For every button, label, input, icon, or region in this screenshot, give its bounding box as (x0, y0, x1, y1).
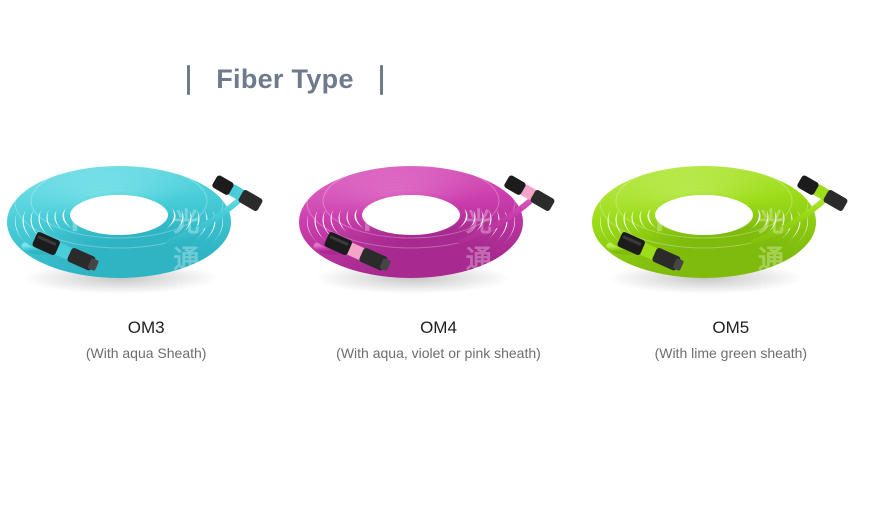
fiber-type-list: FOPT ® 光通讯 OM3 (With aqua Sheath) (0, 150, 877, 380)
page-title-text: Fiber Type (216, 64, 354, 95)
fiber-type-caption-om5: OM5 (With lime green sheath) (655, 316, 808, 363)
fiber-type-sublabel: (With aqua Sheath) (86, 343, 207, 363)
fiber-type-sublabel: (With lime green sheath) (655, 343, 808, 363)
fiber-type-label: OM5 (655, 316, 808, 341)
fiber-type-label: OM4 (336, 316, 541, 341)
fiber-type-caption-om4: OM4 (With aqua, violet or pink sheath) (336, 316, 541, 363)
magenta-fiber-trunk-cable-coil: FOPT ® 光通讯 (293, 150, 583, 310)
fiber-type-card-om5[interactable]: FOPT ® 光通讯 OM5 (With lime green sheath) (585, 150, 877, 380)
page-title: Fiber Type (0, 64, 570, 95)
fiber-type-caption-om3: OM3 (With aqua Sheath) (86, 316, 207, 363)
title-rule-right-icon (380, 65, 383, 95)
fiber-type-card-om3[interactable]: FOPT ® 光通讯 OM3 (With aqua Sheath) (0, 150, 292, 380)
title-rule-left-icon (187, 65, 190, 95)
fiber-type-label: OM3 (86, 316, 207, 341)
aqua-fiber-trunk-cable-coil: FOPT ® 光通讯 (1, 150, 291, 310)
fiber-type-sublabel: (With aqua, violet or pink sheath) (336, 343, 541, 363)
fiber-type-panel: Fiber Type (0, 0, 877, 509)
fiber-type-card-om4[interactable]: FOPT ® 光通讯 OM4 (With aqua, violet or pin… (292, 150, 584, 380)
lime-green-fiber-trunk-cable-coil: FOPT ® 光通讯 (586, 150, 876, 310)
